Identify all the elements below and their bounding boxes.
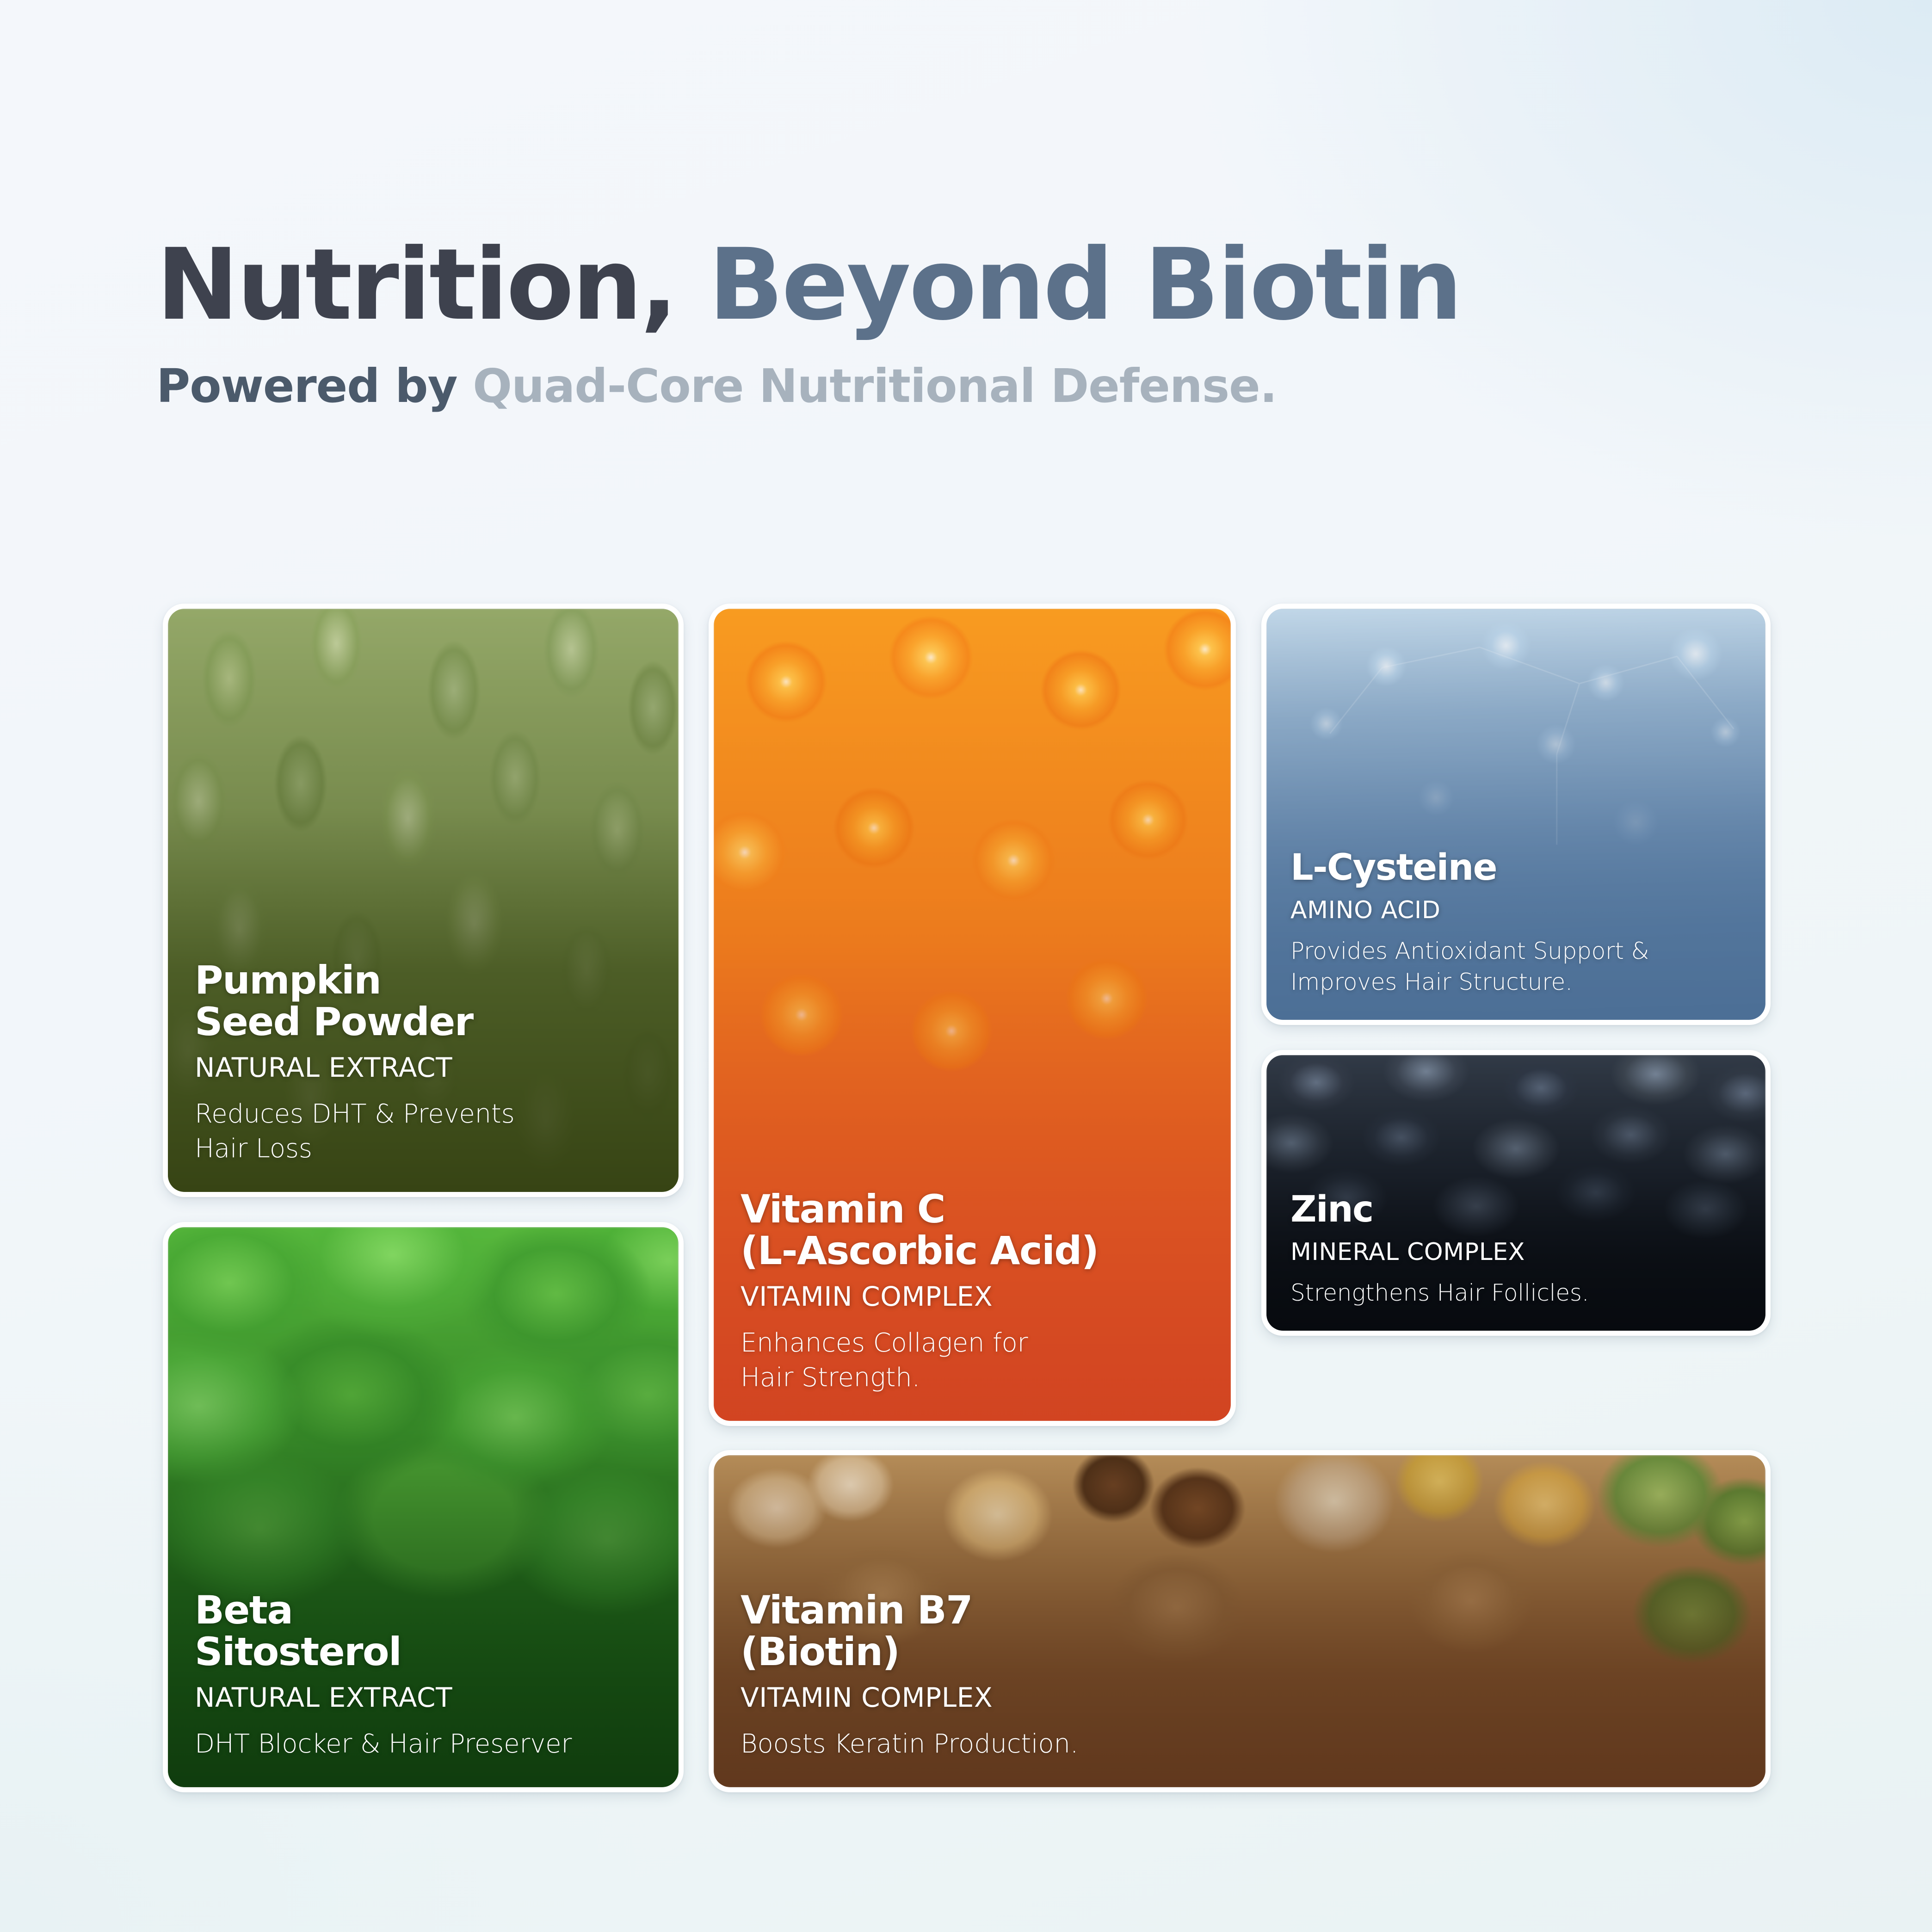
card-title: Pumpkin Seed Powder [195,959,652,1043]
card-description: Provides Antioxidant Support & Improves … [1290,936,1741,998]
card-content: Vitamin B7 (Biotin) VITAMIN COMPLEX Boos… [714,1589,1765,1787]
card-category: NATURAL EXTRACT [195,1053,652,1083]
card-title: Vitamin B7 (Biotin) [741,1589,1739,1673]
card-description: Boosts Keratin Production. [741,1727,1739,1761]
card-description: Enhances Collagen for Hair Strength. [741,1326,1204,1395]
infographic-canvas: Nutrition, Beyond Biotin Powered by Quad… [0,0,1932,1932]
card-content: Beta Sitosterol NATURAL EXTRACT DHT Bloc… [168,1589,679,1787]
subtitle-part-primary: Powered by [156,359,457,413]
ingredient-card-vitamin-c[interactable]: Vitamin C (L-Ascorbic Acid) VITAMIN COMP… [709,604,1236,1426]
card-category: VITAMIN COMPLEX [741,1683,1739,1713]
subtitle-part-secondary: Quad-Core Nutritional Defense. [473,359,1277,413]
title-part-primary: Nutrition, [156,228,676,342]
title-part-secondary: Beyond Biotin [709,228,1461,342]
page-title: Nutrition, Beyond Biotin [156,236,1775,334]
card-inner: Beta Sitosterol NATURAL EXTRACT DHT Bloc… [168,1227,679,1787]
card-content: L-Cysteine AMINO ACID Provides Antioxida… [1266,848,1765,1020]
card-content: Vitamin C (L-Ascorbic Acid) VITAMIN COMP… [714,1188,1231,1421]
card-title: Vitamin C (L-Ascorbic Acid) [741,1188,1204,1272]
card-inner: Zinc MINERAL COMPLEX Strengthens Hair Fo… [1266,1055,1765,1331]
card-category: VITAMIN COMPLEX [741,1282,1204,1312]
card-inner: Vitamin C (L-Ascorbic Acid) VITAMIN COMP… [714,609,1231,1421]
card-description: DHT Blocker & Hair Preserver [195,1727,652,1761]
ingredient-card-beta-sitosterol[interactable]: Beta Sitosterol NATURAL EXTRACT DHT Bloc… [163,1222,684,1792]
header: Nutrition, Beyond Biotin Powered by Quad… [156,236,1775,409]
card-title: L-Cysteine [1290,848,1741,887]
ingredient-card-vitamin-b7[interactable]: Vitamin B7 (Biotin) VITAMIN COMPLEX Boos… [709,1450,1771,1792]
ingredient-card-pumpkin[interactable]: Pumpkin Seed Powder NATURAL EXTRACT Redu… [163,604,684,1197]
card-content: Pumpkin Seed Powder NATURAL EXTRACT Redu… [168,959,679,1192]
card-inner: L-Cysteine AMINO ACID Provides Antioxida… [1266,609,1765,1020]
card-title: Zinc [1290,1190,1741,1229]
ingredient-card-l-cysteine[interactable]: L-Cysteine AMINO ACID Provides Antioxida… [1261,604,1771,1025]
ingredient-card-zinc[interactable]: Zinc MINERAL COMPLEX Strengthens Hair Fo… [1261,1050,1771,1336]
card-description: Strengthens Hair Follicles. [1290,1278,1741,1309]
card-category: NATURAL EXTRACT [195,1683,652,1713]
card-description: Reduces DHT & Prevents Hair Loss [195,1097,652,1166]
card-category: MINERAL COMPLEX [1290,1239,1741,1265]
card-title: Beta Sitosterol [195,1589,652,1673]
page-subtitle: Powered by Quad-Core Nutritional Defense… [156,334,1775,409]
ingredient-card-grid: Pumpkin Seed Powder NATURAL EXTRACT Redu… [163,604,1771,1792]
card-inner: Vitamin B7 (Biotin) VITAMIN COMPLEX Boos… [714,1455,1765,1787]
card-content: Zinc MINERAL COMPLEX Strengthens Hair Fo… [1266,1190,1765,1331]
card-category: AMINO ACID [1290,897,1741,924]
card-inner: Pumpkin Seed Powder NATURAL EXTRACT Redu… [168,609,679,1192]
